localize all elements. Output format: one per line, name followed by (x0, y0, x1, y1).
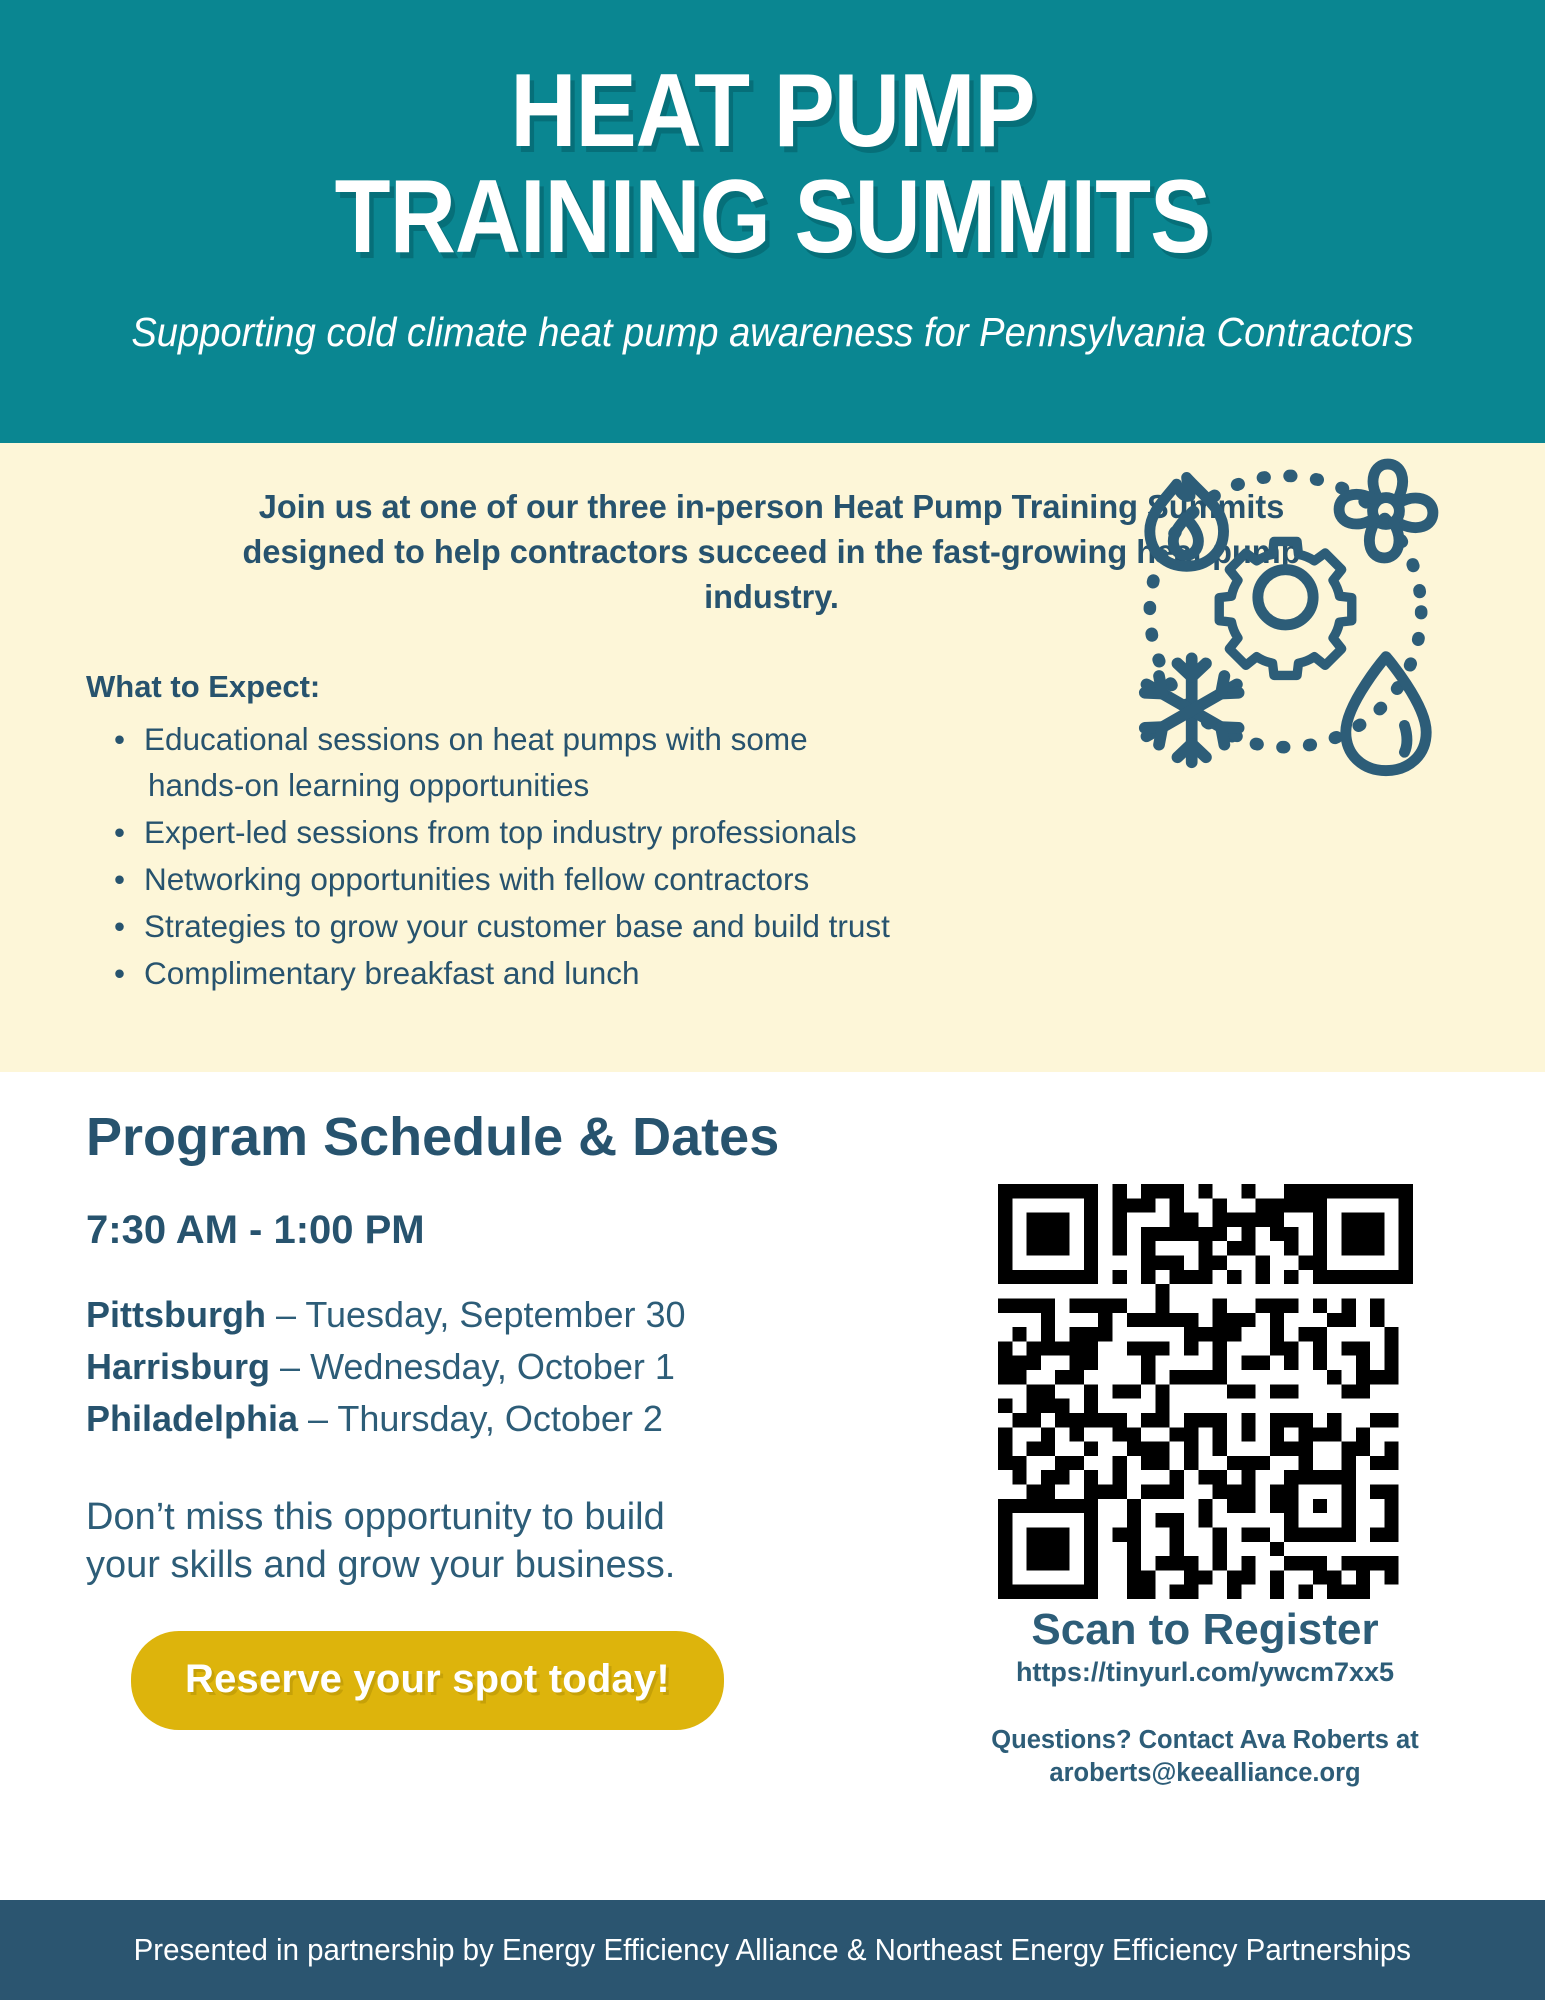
list-item-text: Educational sessions on heat pumps with … (144, 721, 808, 757)
event-date: – Tuesday, September 30 (266, 1294, 686, 1335)
header-banner: HEAT PUMP TRAINING SUMMITS Supporting co… (0, 0, 1545, 443)
page-title: HEAT PUMP TRAINING SUMMITS (128, 58, 1417, 270)
footer-bar: Presented in partnership by Energy Effic… (0, 1900, 1545, 2000)
section-title-schedule: Program Schedule & Dates (86, 1108, 876, 1167)
list-item-text: Expert-led sessions from top industry pr… (144, 814, 857, 850)
bullet-dot-icon: • (114, 904, 125, 950)
footer-text: Presented in partnership by Energy Effic… (134, 1932, 1411, 1968)
bullet-dot-icon: • (114, 951, 125, 997)
list-item-text: Strategies to grow your customer base an… (144, 908, 890, 944)
bullet-dot-icon: • (114, 810, 125, 856)
bullet-dot-icon: • (114, 717, 125, 763)
registration-url[interactable]: https://tinyurl.com/ywcm7xx5 (955, 1656, 1455, 1688)
bullet-dot-icon: • (114, 857, 125, 903)
list-item: Harrisburg – Wednesday, October 1 (86, 1341, 876, 1393)
list-item-text: Networking opportunities with fellow con… (144, 861, 809, 897)
reserve-spot-button[interactable]: Reserve your spot today! (131, 1631, 724, 1730)
intro-section: Join us at one of our three in-person He… (0, 443, 1545, 1072)
event-city: Pittsburgh (86, 1294, 266, 1335)
event-date: – Wednesday, October 1 (270, 1346, 675, 1387)
event-city: Harrisburg (86, 1346, 270, 1387)
closing-message: Don’t miss this opportunity to build you… (86, 1493, 876, 1590)
qr-code[interactable] (998, 1184, 1413, 1599)
register-column: Scan to Register https://tinyurl.com/ywc… (955, 1184, 1455, 1790)
list-item: Pittsburgh – Tuesday, September 30 (86, 1289, 876, 1341)
schedule-column: Program Schedule & Dates 7:30 AM - 1:00 … (86, 1108, 876, 1730)
event-time: 7:30 AM - 1:00 PM (86, 1208, 876, 1253)
list-item: • Expert-led sessions from top industry … (110, 810, 1545, 856)
list-item: • Strategies to grow your customer base … (110, 904, 1545, 950)
poster-root: HEAT PUMP TRAINING SUMMITS Supporting co… (0, 0, 1545, 2000)
event-date: – Thursday, October 2 (298, 1398, 663, 1439)
list-item-text: Complimentary breakfast and lunch (144, 955, 640, 991)
list-item: Philadelphia – Thursday, October 2 (86, 1393, 876, 1445)
list-item: • Networking opportunities with fellow c… (110, 857, 1545, 903)
hvac-heating-cooling-icon (1118, 444, 1453, 779)
event-dates-list: Pittsburgh – Tuesday, September 30 Harri… (86, 1289, 876, 1444)
main-section: Program Schedule & Dates 7:30 AM - 1:00 … (0, 1072, 1545, 2000)
header-subtitle: Supporting cold climate heat pump awaren… (91, 308, 1453, 357)
event-city: Philadelphia (86, 1398, 298, 1439)
contact-info: Questions? Contact Ava Roberts at arober… (955, 1724, 1455, 1790)
list-item: • Complimentary breakfast and lunch (110, 951, 1545, 997)
scan-to-register-label: Scan to Register (955, 1607, 1455, 1654)
